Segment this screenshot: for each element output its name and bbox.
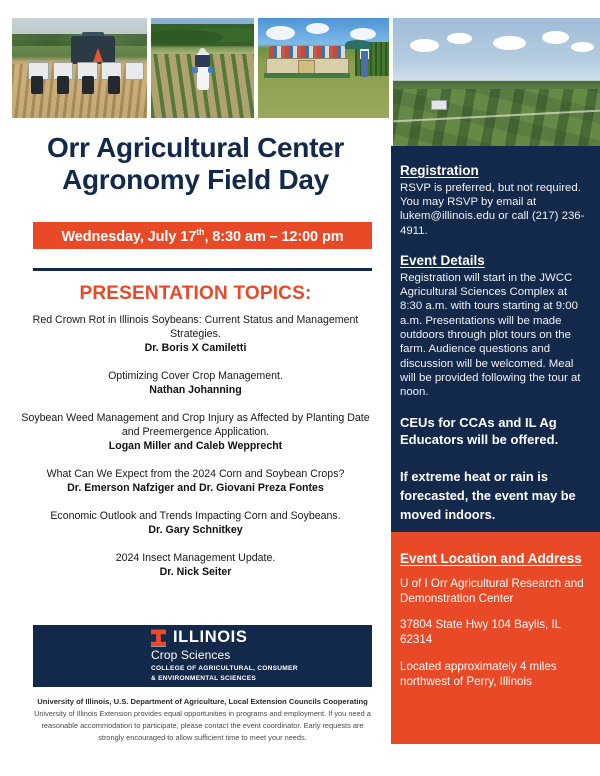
accommodation-statement: University of Illinois Extension provide… — [30, 708, 375, 744]
presentation-topics-heading: PRESENTATION TOPICS: — [0, 283, 391, 305]
safety-marker — [93, 48, 103, 62]
event-date-banner: Wednesday, July 17th, 8:30 am – 12:00 pm — [33, 222, 372, 249]
cloud — [493, 36, 526, 51]
illinois-crop-sciences-logo: ILLINOIS Crop Sciences COLLEGE OF AGRICU… — [33, 625, 372, 687]
event-location-heading: Event Location and Address — [400, 550, 591, 568]
left-content-column: Orr Agricultural Center Agronomy Field D… — [0, 120, 391, 776]
ceu-note: CEUs for CCAs and IL Ag Educators will b… — [400, 414, 591, 449]
topic-speakers: Dr. Gary Schnitkey — [14, 523, 377, 538]
cooperating-agencies-line: University of Illinois, U.S. Department … — [30, 696, 375, 707]
cloud — [410, 39, 439, 52]
illini-block-i-icon — [151, 629, 166, 646]
weather-note: If extreme heat or rain is forecasted, t… — [400, 467, 591, 525]
location-address: 37804 State Hwy 104 Baylis, IL 62314 — [400, 618, 591, 648]
planter-unit — [82, 76, 94, 94]
location-directions: Located approximately 4 miles northwest … — [400, 660, 591, 690]
topic-title: Soybean Weed Management and Crop Injury … — [14, 411, 377, 439]
date-rest: , 8:30 am – 12:00 pm — [204, 228, 343, 244]
registration-details-panel: Registration RSVP is preferred, but not … — [391, 146, 600, 532]
cloud — [306, 23, 330, 34]
event-details-heading: Event Details — [400, 252, 591, 270]
topic-speakers: Dr. Emerson Nafziger and Dr. Giovani Pre… — [14, 481, 377, 496]
glove — [208, 67, 213, 73]
logo-inner: ILLINOIS Crop Sciences COLLEGE OF AGRICU… — [151, 628, 298, 683]
flyer-page: Orr Agricultural Center Agronomy Field D… — [0, 0, 600, 776]
photo-aerial-view-research-plots — [393, 18, 600, 165]
topic-title: What Can We Expect from the 2024 Corn an… — [14, 467, 377, 481]
page-title: Orr Agricultural Center Agronomy Field D… — [0, 120, 391, 197]
topic-speakers: Logan Miller and Caleb Wepprecht — [14, 439, 377, 454]
topic-item: What Can We Expect from the 2024 Corn an… — [14, 467, 377, 496]
logo-unit-name: Crop Sciences — [151, 648, 298, 662]
planter-unit — [108, 76, 120, 94]
photo-researcher-walking-soybean-field — [151, 18, 254, 118]
topic-speakers: Dr. Boris X Camiletti — [14, 341, 377, 356]
topic-item: 2024 Insect Management Update. Dr. Nick … — [14, 551, 377, 580]
cloud — [350, 28, 376, 40]
topic-title: 2024 Insect Management Update. — [14, 551, 377, 565]
umbrella — [345, 40, 371, 49]
topic-item: Red Crown Rot in Illinois Soybeans: Curr… — [14, 313, 377, 356]
topic-title: Red Crown Rot in Illinois Soybeans: Curr… — [14, 313, 377, 341]
logo-college-line-2: & ENVIRONMENTAL SCIENCES — [151, 675, 256, 682]
topic-item: Soybean Weed Management and Crop Injury … — [14, 411, 377, 454]
photo-tractor-planter-in-field — [12, 18, 147, 118]
title-line-2: Agronomy Field Day — [62, 164, 329, 195]
logo-wordmark-row: ILLINOIS — [151, 628, 298, 647]
right-info-column: Registration RSVP is preferred, but not … — [391, 146, 600, 776]
topic-item: Optimizing Cover Crop Management. Nathan… — [14, 369, 377, 398]
planter-unit — [31, 76, 43, 94]
presentation-topics-list: Red Crown Rot in Illinois Soybeans: Curr… — [14, 313, 377, 593]
photo-strip — [12, 18, 600, 118]
planter-unit — [57, 76, 69, 94]
registration-heading: Registration — [400, 162, 591, 180]
person-head — [199, 48, 206, 55]
cloud — [266, 26, 295, 40]
farm-building — [431, 100, 447, 109]
cloud — [542, 31, 569, 44]
hay-bale — [298, 60, 316, 74]
topic-speakers: Nathan Johanning — [14, 383, 377, 398]
topic-speakers: Dr. Nick Seiter — [14, 565, 377, 580]
planter-hopper — [125, 62, 143, 80]
glove — [192, 67, 197, 73]
location-name: U of I Orr Agricultural Research and Dem… — [400, 577, 591, 607]
topic-title: Economic Outlook and Trends Impacting Co… — [14, 509, 377, 523]
topic-item: Economic Outlook and Trends Impacting Co… — [14, 509, 377, 538]
backpack — [195, 55, 209, 67]
logo-college-name: COLLEGE OF AGRICULTURAL, CONSUMER & ENVI… — [151, 664, 298, 683]
photo-wagon-tour-group-in-field — [258, 18, 389, 118]
tree-canopy — [151, 24, 254, 46]
topic-title: Optimizing Cover Crop Management. — [14, 369, 377, 383]
fine-print-footer: University of Illinois, U.S. Department … — [30, 696, 375, 744]
event-details-body: Registration will start in the JWCC Agri… — [400, 271, 591, 400]
cloud — [571, 42, 594, 52]
wagon-deck — [264, 73, 351, 78]
section-divider-rule — [33, 268, 372, 271]
registration-body: RSVP is preferred, but not required. You… — [400, 181, 591, 238]
event-location-panel: Event Location and Address U of I Orr Ag… — [391, 532, 600, 744]
date-prefix: Wednesday, July 17 — [61, 228, 196, 244]
event-date-text: Wednesday, July 17th, 8:30 am – 12:00 pm — [61, 227, 343, 245]
title-line-1: Orr Agricultural Center — [47, 132, 344, 163]
logo-college-line-1: COLLEGE OF AGRICULTURAL, CONSUMER — [151, 665, 298, 672]
logo-wordmark: ILLINOIS — [173, 628, 247, 647]
presenter-figure — [361, 51, 369, 77]
cloud — [447, 33, 472, 45]
